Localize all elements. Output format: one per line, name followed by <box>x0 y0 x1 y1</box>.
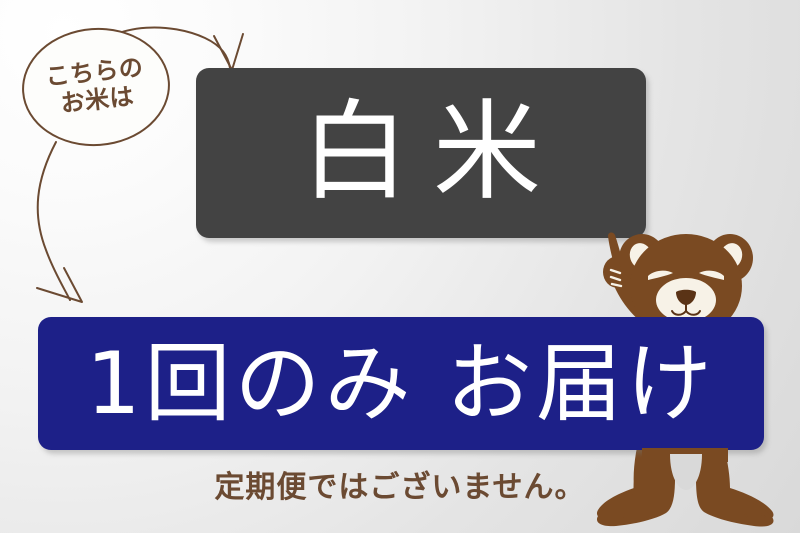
callout-line-2: お米は <box>59 83 135 118</box>
rice-type-banner: 白米 <box>196 68 646 238</box>
arrow-bottom-curve <box>38 142 70 300</box>
delivery-frequency-banner: 1回のみ お届け <box>38 317 764 450</box>
arrow-bottom-head <box>37 268 82 302</box>
subscription-disclaimer: 定期便ではございません。 <box>0 462 800 506</box>
callout-bubble: こちらの お米は <box>22 28 170 146</box>
delivery-frequency-label: 1回のみ お届け <box>86 341 716 427</box>
rice-type-banner-label: 白米 <box>277 99 565 207</box>
callout-bubble-text: こちらの お米は <box>16 21 176 154</box>
promo-banner-canvas: こちらの お米は 白米 <box>0 0 800 533</box>
arrow-top-head <box>214 34 243 70</box>
